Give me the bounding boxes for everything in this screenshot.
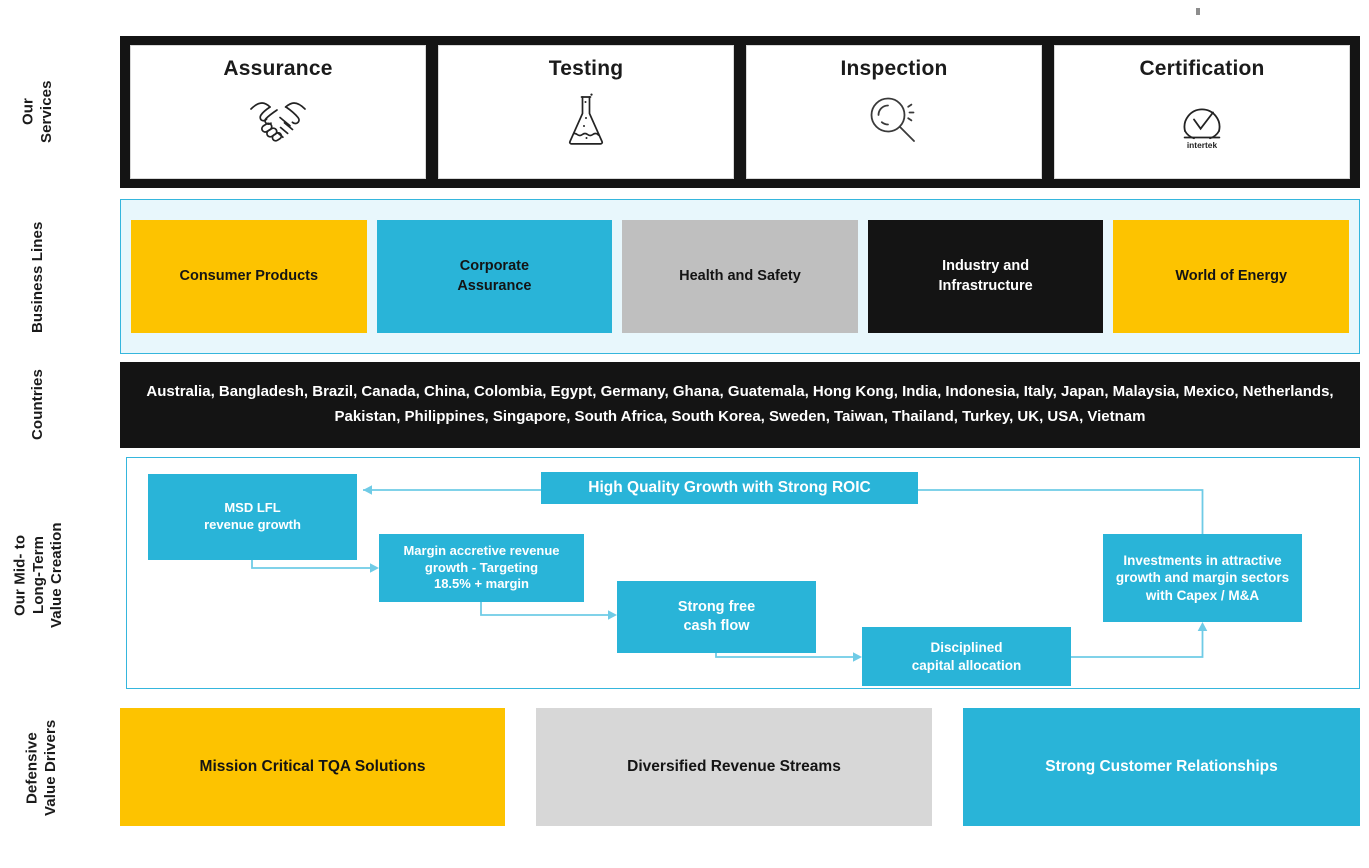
business-lines-band: Consumer Products Corporate Assurance He…: [120, 199, 1360, 354]
flow-box-investments-capex-ma[interactable]: Investments in attractive growth and mar…: [1103, 534, 1302, 622]
business-line-health-and-safety[interactable]: Health and Safety: [622, 220, 858, 333]
defensive-driver-mission-critical-tqa-solutions[interactable]: Mission Critical TQA Solutions: [120, 708, 505, 826]
intertek-wordmark: intertek: [1187, 140, 1218, 150]
service-card-certification[interactable]: Certification intertek: [1054, 45, 1350, 179]
row-label-our-services: Our Services: [18, 44, 58, 180]
business-line-industry-and-infrastructure[interactable]: Industry and Infrastructure: [868, 220, 1104, 333]
value-creation-infographic: Our Services Assurance Te: [0, 0, 1369, 868]
defensive-driver-diversified-revenue-streams[interactable]: Diversified Revenue Streams: [536, 708, 932, 826]
row-label-defensive-value-drivers: Defensive Value Drivers: [18, 710, 66, 826]
business-line-corporate-assurance[interactable]: Corporate Assurance: [377, 220, 613, 333]
service-card-assurance[interactable]: Assurance: [130, 45, 426, 179]
magnifier-icon: [867, 90, 921, 152]
flow-banner-high-quality-growth: High Quality Growth with Strong ROIC: [541, 472, 918, 504]
business-line-consumer-products[interactable]: Consumer Products: [131, 220, 367, 333]
flow-box-strong-free-cash-flow[interactable]: Strong free cash flow: [617, 581, 816, 653]
service-title: Assurance: [223, 57, 332, 81]
row-label-countries: Countries: [18, 362, 58, 448]
flow-box-disciplined-capital-allocation[interactable]: Disciplined capital allocation: [862, 627, 1071, 686]
service-card-inspection[interactable]: Inspection: [746, 45, 1042, 179]
service-card-testing[interactable]: Testing: [438, 45, 734, 179]
value-creation-flow: High Quality Growth with Strong ROIC MSD…: [126, 457, 1360, 689]
defensive-driver-strong-customer-relationships[interactable]: Strong Customer Relationships: [963, 708, 1360, 826]
intertek-checkmark-icon: intertek: [1170, 90, 1234, 152]
defensive-value-drivers-band: Mission Critical TQA Solutions Diversifi…: [120, 708, 1360, 826]
service-title: Testing: [549, 57, 624, 81]
row-label-business-lines: Business Lines: [18, 212, 58, 342]
countries-list: Australia, Bangladesh, Brazil, Canada, C…: [136, 380, 1344, 430]
service-title: Inspection: [840, 57, 947, 81]
service-title: Certification: [1139, 57, 1264, 81]
flow-box-margin-accretive-revenue-growth[interactable]: Margin accretive revenue growth - Target…: [379, 534, 584, 602]
business-line-world-of-energy[interactable]: World of Energy: [1113, 220, 1349, 333]
decorative-mark: [1196, 8, 1200, 15]
flow-box-msd-lfl-revenue-growth[interactable]: MSD LFL revenue growth: [148, 474, 357, 560]
handshake-icon: [247, 90, 309, 152]
our-services-band: Assurance Testing: [120, 36, 1360, 188]
countries-band: Australia, Bangladesh, Brazil, Canada, C…: [120, 362, 1360, 448]
flask-icon: [563, 90, 609, 152]
row-label-value-creation: Our Mid- to Long-Term Value Creation: [10, 500, 68, 650]
